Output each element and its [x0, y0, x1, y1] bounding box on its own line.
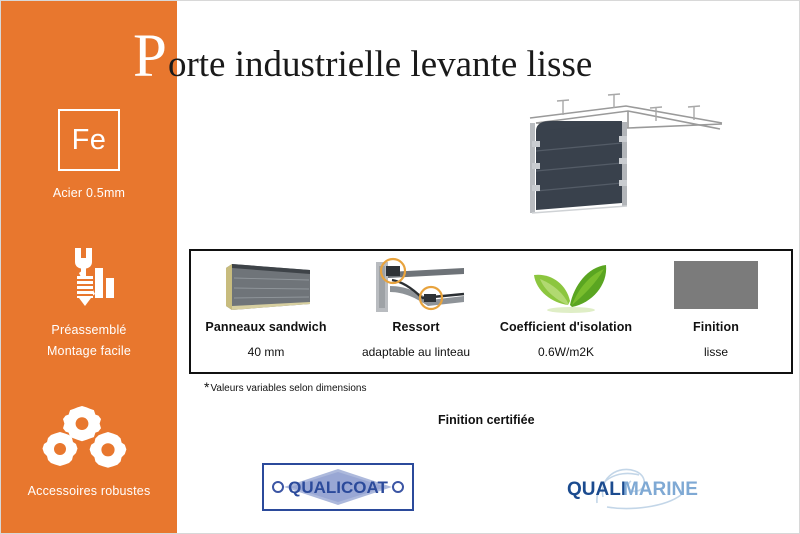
gears-icon: [1, 405, 177, 471]
sidebar-item-steel-label: Acier 0.5mm: [1, 183, 177, 204]
feature-sandwich-panel: Panneaux sandwich 40 mm: [191, 251, 341, 372]
feature-finish-value: lisse: [704, 345, 728, 359]
feature-insulation-value: 0.6W/m2K: [538, 345, 594, 359]
qualimarine-logo-text-a: QUALI: [567, 479, 626, 500]
feature-spring-value: adaptable au linteau: [362, 345, 470, 359]
sidebar-item-preassembled-label-2: Montage facile: [1, 341, 177, 362]
feature-spring: Ressort adaptable au linteau: [341, 251, 491, 372]
wrench-bolt-icon: [1, 244, 177, 310]
feature-sandwich-panel-value: 40 mm: [248, 345, 285, 359]
page-title: P orte industrielle levante lisse: [133, 27, 592, 87]
feature-sandwich-panel-title: Panneaux sandwich: [205, 320, 326, 334]
feature-specs-box: Panneaux sandwich 40 mm: [189, 249, 793, 374]
footnote-text: Valeurs variables selon dimensions: [210, 383, 366, 394]
product-photo: [506, 91, 756, 226]
sidebar-item-preassembled: Préassemblé Montage facile: [1, 244, 177, 362]
qualicoat-logo: QUALICOAT: [262, 463, 414, 511]
feature-spring-title: Ressort: [392, 320, 439, 334]
sidebar-item-steel: Fe Acier 0.5mm: [1, 109, 177, 204]
footnote-star: *: [204, 379, 209, 395]
sidebar-item-accessories: Accessoires robustes: [1, 405, 177, 502]
product-datasheet-page: Fe Acier 0.5mm: [0, 0, 800, 534]
qualimarine-logo: QUALI MARINE: [561, 463, 711, 511]
feature-insulation-title: Coefficient d'isolation: [500, 320, 632, 334]
smooth-finish-swatch-icon: [670, 255, 762, 317]
feature-insulation: Coefficient d'isolation 0.6W/m2K: [491, 251, 641, 372]
fe-symbol-label: Fe: [72, 126, 107, 155]
spring-mechanism-icon: [360, 255, 472, 317]
page-title-initial: P: [133, 27, 167, 87]
feature-finish-title: Finition: [693, 320, 739, 334]
qualimarine-logo-text-b: MARINE: [623, 479, 698, 500]
footnote: *Valeurs variables selon dimensions: [204, 379, 366, 395]
sidebar-item-accessories-label: Accessoires robustes: [1, 481, 177, 502]
certification-label: Finition certifiée: [438, 413, 535, 427]
feature-finish: Finition lisse: [641, 251, 791, 372]
sidebar-item-preassembled-label-1: Préassemblé: [1, 320, 177, 341]
green-leaves-icon: [516, 255, 616, 317]
fe-square-icon: Fe: [58, 109, 120, 171]
sandwich-panel-icon: [212, 255, 320, 317]
page-title-text: orte industrielle levante lisse: [168, 43, 592, 87]
qualicoat-logo-text: QUALICOAT: [288, 478, 388, 497]
